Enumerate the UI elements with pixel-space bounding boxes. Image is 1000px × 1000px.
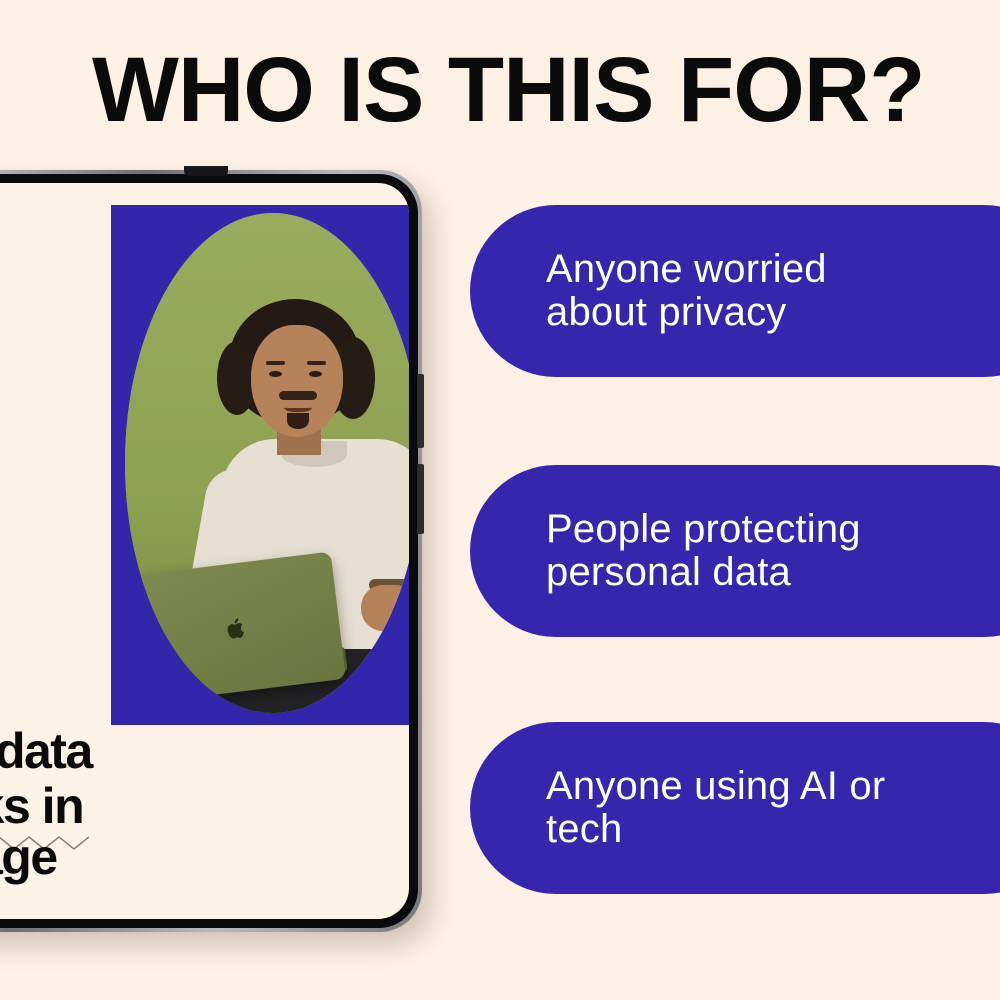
front-camera-nub: [184, 166, 228, 176]
tablet-device: ft Inside biometric data privacy risks i…: [0, 170, 422, 932]
power-button[interactable]: [417, 464, 424, 534]
photo-oval-mask: [125, 213, 409, 713]
photo-panel: [111, 205, 409, 725]
audience-pill-1[interactable]: Anyone worried about privacy: [470, 205, 1000, 377]
headline-line-2-text: privacy risks in: [0, 778, 83, 834]
headline-line-3: the digital age: [0, 832, 263, 884]
laptop: [136, 552, 346, 703]
headline-line-1: biometric data: [0, 723, 263, 781]
person-illustration: [125, 213, 409, 713]
audience-pill-2[interactable]: People protecting personal data: [470, 465, 1000, 637]
audience-pill-3[interactable]: Anyone using AI or tech: [470, 722, 1000, 894]
headline-line-1-rest: data: [0, 723, 92, 779]
screen-headline: biometric data privacy risks in the digi…: [0, 723, 263, 884]
device-bezel: ft Inside biometric data privacy risks i…: [0, 174, 418, 928]
audience-pill-2-label: People protecting personal data: [546, 508, 861, 594]
device-screen[interactable]: ft Inside biometric data privacy risks i…: [0, 183, 409, 919]
volume-button[interactable]: [417, 374, 424, 448]
headline-line-2: privacy risks in: [0, 781, 263, 833]
audience-pill-1-label: Anyone worried about privacy: [546, 248, 827, 334]
person-face: [251, 325, 343, 437]
apple-logo-icon: [222, 614, 251, 645]
audience-pill-3-label: Anyone using AI or tech: [546, 765, 885, 851]
page-title: WHO IS THIS FOR?: [92, 44, 924, 136]
